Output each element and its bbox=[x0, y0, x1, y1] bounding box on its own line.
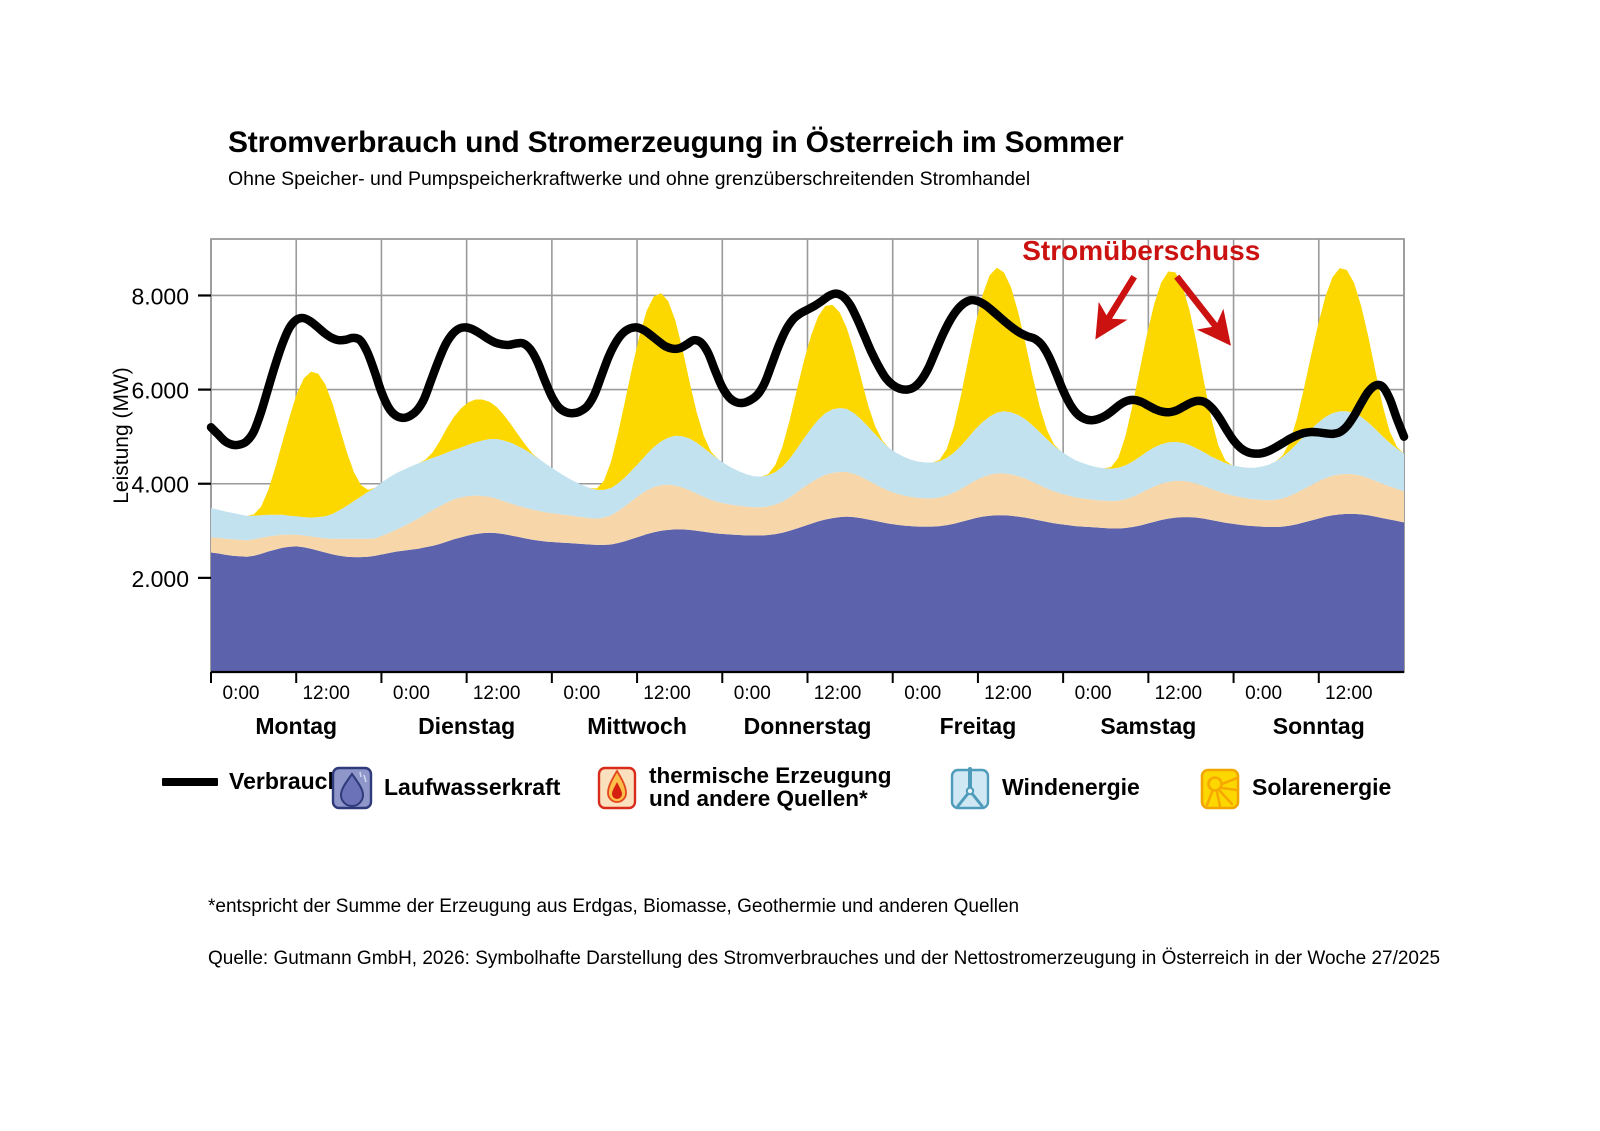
x-axis: 0:0012:00Montag0:0012:00Dienstag0:0012:0… bbox=[211, 672, 1404, 739]
chart-page: Stromverbrauch und Stromerzeugung in Öst… bbox=[0, 0, 1600, 1131]
x-tick-label-72: 0:00 bbox=[734, 683, 771, 704]
footnote-text: *entspricht der Summe der Erzeugung aus … bbox=[208, 896, 1019, 918]
source-text: Quelle: Gutmann GmbH, 2026: Symbolhafte … bbox=[208, 948, 1440, 970]
x-tick-label-84: 12:00 bbox=[814, 683, 862, 704]
legend-label-verbrauch: Verbrauch bbox=[229, 770, 342, 793]
x-tick-label-120: 0:00 bbox=[1075, 683, 1112, 704]
legend-label-windenergie: Windenergie bbox=[1002, 776, 1140, 799]
chart-legend: Verbrauch Laufwasserkraft t bbox=[140, 752, 1470, 824]
x-day-label-4: Freitag bbox=[940, 713, 1017, 739]
x-day-label-2: Mittwoch bbox=[587, 713, 687, 739]
legend-label-laufwasserkraft: Laufwasserkraft bbox=[384, 776, 560, 799]
legend-label-thermische: thermische Erzeugung und andere Quellen* bbox=[649, 765, 892, 811]
legend-item-solarenergie[interactable]: Solarenergie bbox=[1198, 764, 1391, 811]
energy-area-chart: 2.0004.0006.0008.000Leistung (MW)0:0012:… bbox=[0, 0, 1600, 760]
legend-item-laufwasserkraft[interactable]: Laufwasserkraft bbox=[330, 764, 560, 811]
y-axis-title: Leistung (MW) bbox=[110, 367, 133, 504]
legend-item-windenergie[interactable]: Windenergie bbox=[948, 764, 1140, 811]
x-tick-label-108: 12:00 bbox=[984, 683, 1032, 704]
x-day-label-5: Samstag bbox=[1100, 713, 1196, 739]
x-day-label-1: Dienstag bbox=[418, 713, 515, 739]
x-tick-label-12: 12:00 bbox=[302, 683, 350, 704]
x-tick-label-24: 0:00 bbox=[393, 683, 430, 704]
x-tick-label-144: 0:00 bbox=[1245, 683, 1282, 704]
legend-item-verbrauch[interactable]: Verbrauch bbox=[162, 770, 342, 793]
x-tick-label-36: 12:00 bbox=[473, 683, 521, 704]
y-tick-label-0: 2.000 bbox=[131, 566, 189, 592]
x-tick-label-132: 12:00 bbox=[1155, 683, 1203, 704]
legend-label-solarenergie: Solarenergie bbox=[1252, 776, 1391, 799]
legend-label-thermische-line1: thermische Erzeugung bbox=[649, 763, 892, 788]
sun-icon bbox=[1198, 764, 1241, 811]
x-day-label-6: Sonntag bbox=[1273, 713, 1365, 739]
y-tick-label-1: 4.000 bbox=[131, 472, 189, 498]
y-axis: 2.0004.0006.0008.000Leistung (MW) bbox=[110, 283, 211, 591]
legend-label-thermische-line2: und andere Quellen* bbox=[649, 786, 868, 811]
plot-area bbox=[211, 239, 1404, 672]
x-tick-label-96: 0:00 bbox=[904, 683, 941, 704]
x-day-label-3: Donnerstag bbox=[744, 713, 872, 739]
wind-turbine-icon bbox=[948, 764, 991, 811]
x-tick-label-48: 0:00 bbox=[563, 683, 600, 704]
x-tick-label-0: 0:00 bbox=[223, 683, 260, 704]
annotation-label-0: Stromüberschuss bbox=[1022, 235, 1260, 266]
x-tick-label-156: 12:00 bbox=[1325, 683, 1373, 704]
legend-item-thermische[interactable]: thermische Erzeugung und andere Quellen* bbox=[595, 764, 892, 811]
flame-icon bbox=[595, 764, 638, 811]
y-tick-label-3: 8.000 bbox=[131, 283, 189, 309]
water-drop-icon bbox=[330, 764, 373, 811]
x-day-label-0: Montag bbox=[255, 713, 337, 739]
x-tick-label-60: 12:00 bbox=[643, 683, 691, 704]
y-tick-label-2: 6.000 bbox=[131, 378, 189, 404]
line-swatch-icon bbox=[162, 778, 218, 786]
